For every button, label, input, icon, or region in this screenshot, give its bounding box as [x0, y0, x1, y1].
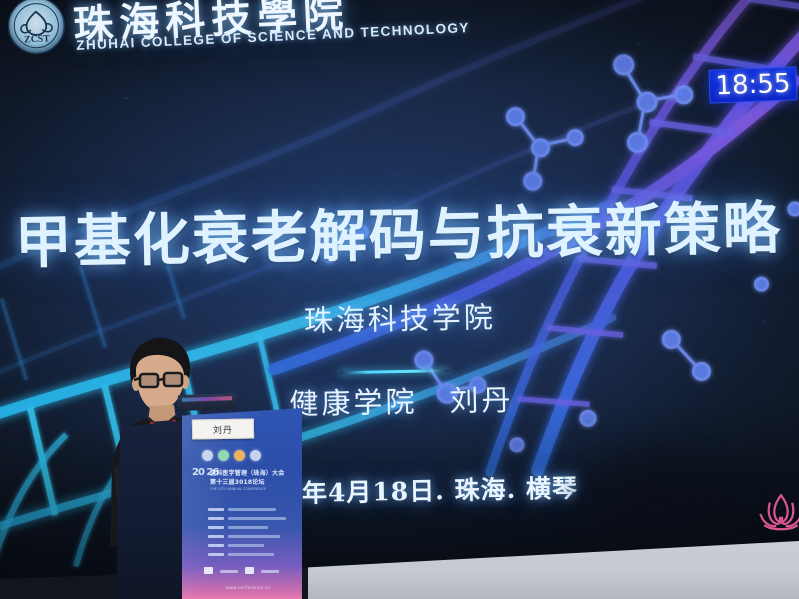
podium-footer-marks	[204, 567, 279, 574]
digital-clock: 18:55	[708, 66, 797, 103]
nameplate-text: 刘丹	[213, 422, 233, 435]
podium-branding-panel: 刘丹 20 26 全科医学管理（珠海）大会 第十三届3018论坛 THE 13T…	[182, 408, 302, 599]
podium-event-en: THE 13TH ANNUAL CONFERENCE	[210, 487, 266, 491]
sponsor-badge-row	[202, 450, 261, 461]
leaf-badge-icon	[202, 450, 213, 461]
podium-detail-lines	[208, 508, 294, 562]
stage-shadow	[560, 437, 760, 557]
podium: 刘丹 20 26 全科医学管理（珠海）大会 第十三届3018论坛 THE 13T…	[116, 408, 306, 599]
podium-event-title: 全科医学管理（珠海）大会	[210, 468, 284, 477]
conference-stage-photo: 甲基化衰老解码与抗衰新策略 珠海科技学院 健康学院 刘丹 2026年4月18日.…	[0, 0, 799, 599]
shield-badge-icon	[250, 450, 261, 461]
ribbon-badge-icon	[234, 450, 245, 461]
slide-title: 甲基化衰老解码与抗衰新策略	[0, 182, 798, 279]
zcst-seal-logo: ZCST	[6, 0, 67, 56]
podium-event-sub: 第十三届3018论坛	[210, 477, 265, 486]
podium-url: www.conference.cn	[226, 585, 270, 590]
cross-badge-icon	[218, 450, 229, 461]
podium-front-panel	[116, 420, 186, 599]
clock-time: 18:55	[715, 69, 791, 102]
laptop-device	[178, 393, 237, 411]
speaker-nameplate: 刘丹	[192, 418, 254, 439]
slide-divider	[339, 369, 449, 374]
svg-text:ZCST: ZCST	[24, 33, 51, 45]
